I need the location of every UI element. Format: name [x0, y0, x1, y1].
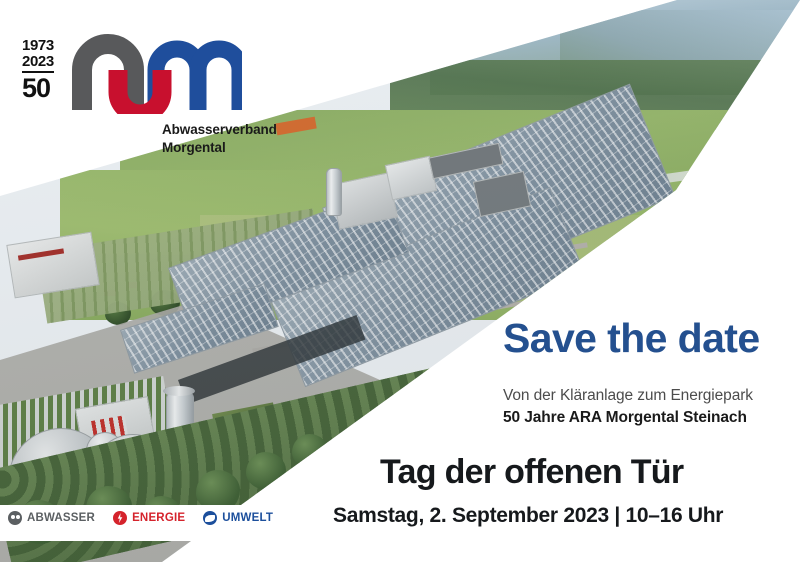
subheadline-line2: 50 Jahre ARA Morgental Steinach	[503, 407, 753, 429]
badge-abwasser[interactable]: ABWASSER	[8, 511, 95, 525]
photo-silo-cap	[163, 386, 195, 396]
logo-org-line2: Morgental	[162, 139, 277, 157]
badge-energie-label: ENERGIE	[132, 512, 185, 524]
badge-energie[interactable]: ENERGIE	[113, 511, 185, 525]
logo-org-line1: Abwasserverband	[162, 121, 277, 139]
anniversary-year-to: 2023	[22, 54, 54, 72]
avm-wordmark	[72, 30, 242, 112]
badge-umwelt-label: UMWELT	[222, 512, 273, 524]
avm-logo[interactable]: 1973 2023 50 Abwasserverband Morgental	[22, 28, 312, 138]
service-badges: ABWASSER ENERGIE UMWELT	[8, 511, 273, 525]
anniversary-year-from: 1973	[22, 38, 74, 53]
subheadline: Von der Kläranlage zum Energiepark 50 Ja…	[503, 385, 753, 430]
badge-umwelt[interactable]: UMWELT	[203, 511, 273, 525]
badge-abwasser-label: ABWASSER	[27, 512, 95, 524]
anniversary-mark: 1973 2023 50	[22, 38, 74, 102]
photo-tree	[246, 452, 286, 490]
environment-drop-icon	[203, 511, 217, 525]
poster-canvas: ABWASSER ENERGIE UMWELT 1973 2023 50	[0, 0, 800, 562]
save-the-date-headline: Save the date	[503, 318, 760, 359]
photo-tree	[196, 470, 240, 512]
event-title: Tag der offenen Tür	[380, 455, 683, 489]
anniversary-number: 50	[22, 75, 74, 102]
photo-stack	[326, 168, 342, 216]
energy-bolt-icon	[113, 511, 127, 525]
logo-org-name: Abwasserverband Morgental	[162, 121, 277, 157]
photo-tree	[292, 434, 328, 468]
subheadline-line1: Von der Kläranlage zum Energiepark	[503, 385, 753, 407]
wastewater-icon	[8, 511, 22, 525]
event-date-line: Samstag, 2. September 2023 | 10–16 Uhr	[333, 505, 723, 526]
